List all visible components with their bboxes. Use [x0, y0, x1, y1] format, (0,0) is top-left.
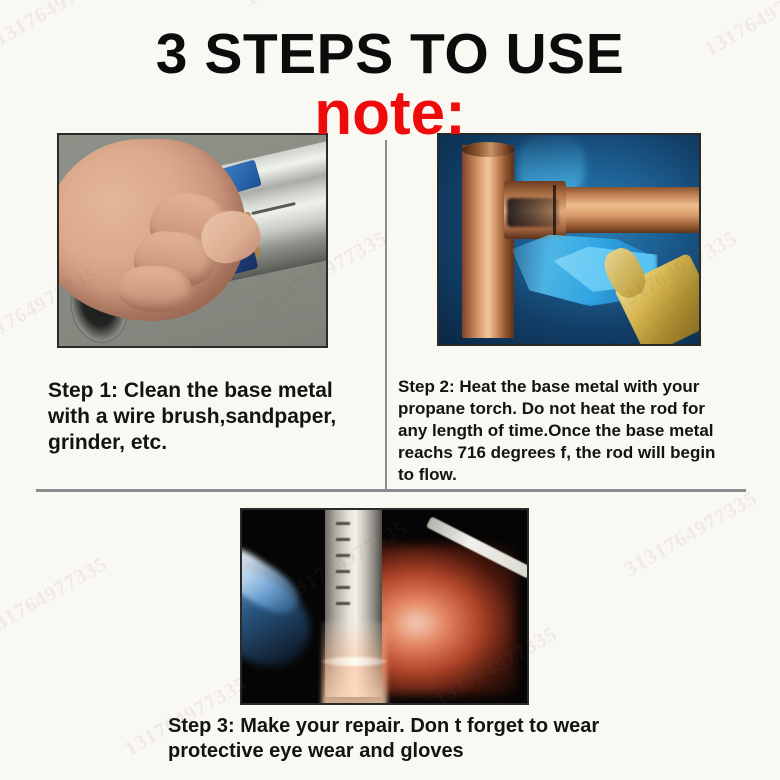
- pipe-markings: [336, 522, 350, 611]
- copper-pipe-vertical: [462, 145, 514, 337]
- page-title: 3 STEPS TO USE: [0, 24, 780, 84]
- poster-root: 131764977335 131764977335 131764977335 1…: [0, 0, 780, 780]
- note-label: note:: [0, 82, 780, 146]
- watermark-text: 3131764977335: [620, 485, 762, 581]
- photo-background: [242, 510, 527, 703]
- joint-shadow: [507, 198, 559, 227]
- watermark-text: 131764977335: [240, 0, 372, 12]
- step-1-image: [57, 133, 328, 348]
- watermark-text: 131764977335: [0, 551, 112, 642]
- step-1-caption: Step 1: Clean the base metal with a wire…: [48, 378, 373, 456]
- step-2-image: [437, 133, 701, 346]
- step-3-caption: Step 3: Make your repair. Don t forget t…: [168, 714, 628, 764]
- horizontal-divider: [36, 489, 746, 492]
- step-3-image: [240, 508, 529, 705]
- vertical-divider: [385, 140, 387, 490]
- solder-joint-line: [553, 185, 556, 235]
- photo-background: [59, 135, 326, 346]
- step-2-caption: Step 2: Heat the base metal with your pr…: [398, 376, 716, 486]
- photo-background: [439, 135, 699, 344]
